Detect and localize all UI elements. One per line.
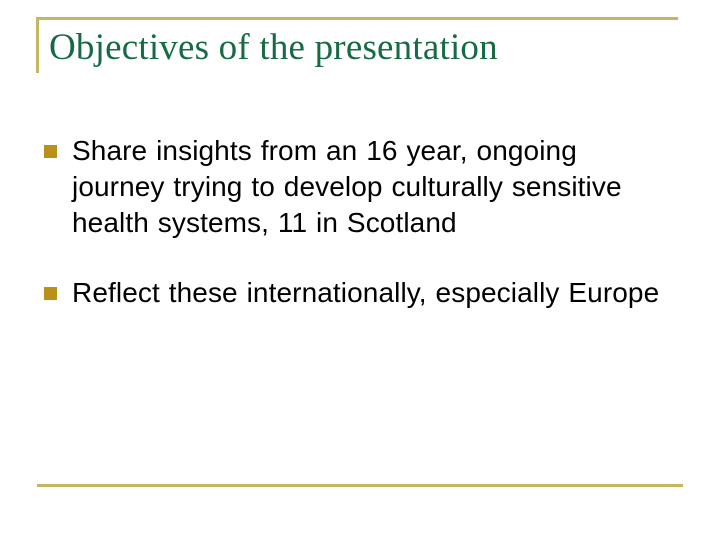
left-gold-accent-rule — [36, 17, 39, 73]
bullet-item-text: Reflect these internationally, especiall… — [72, 275, 665, 311]
bottom-gold-rule — [37, 484, 683, 487]
bullet-item-text: Share insights from an 16 year, ongoing … — [72, 133, 665, 241]
square-bullet-icon — [44, 145, 57, 158]
slide-title: Objectives of the presentation — [49, 26, 669, 70]
top-gold-rule — [36, 17, 678, 20]
square-bullet-icon — [44, 287, 57, 300]
presentation-slide: Objectives of the presentation Share ins… — [0, 0, 720, 540]
slide-body-content: Share insights from an 16 year, ongoing … — [40, 133, 665, 311]
bullet-item: Share insights from an 16 year, ongoing … — [40, 133, 665, 241]
bullet-item: Reflect these internationally, especiall… — [40, 275, 665, 311]
